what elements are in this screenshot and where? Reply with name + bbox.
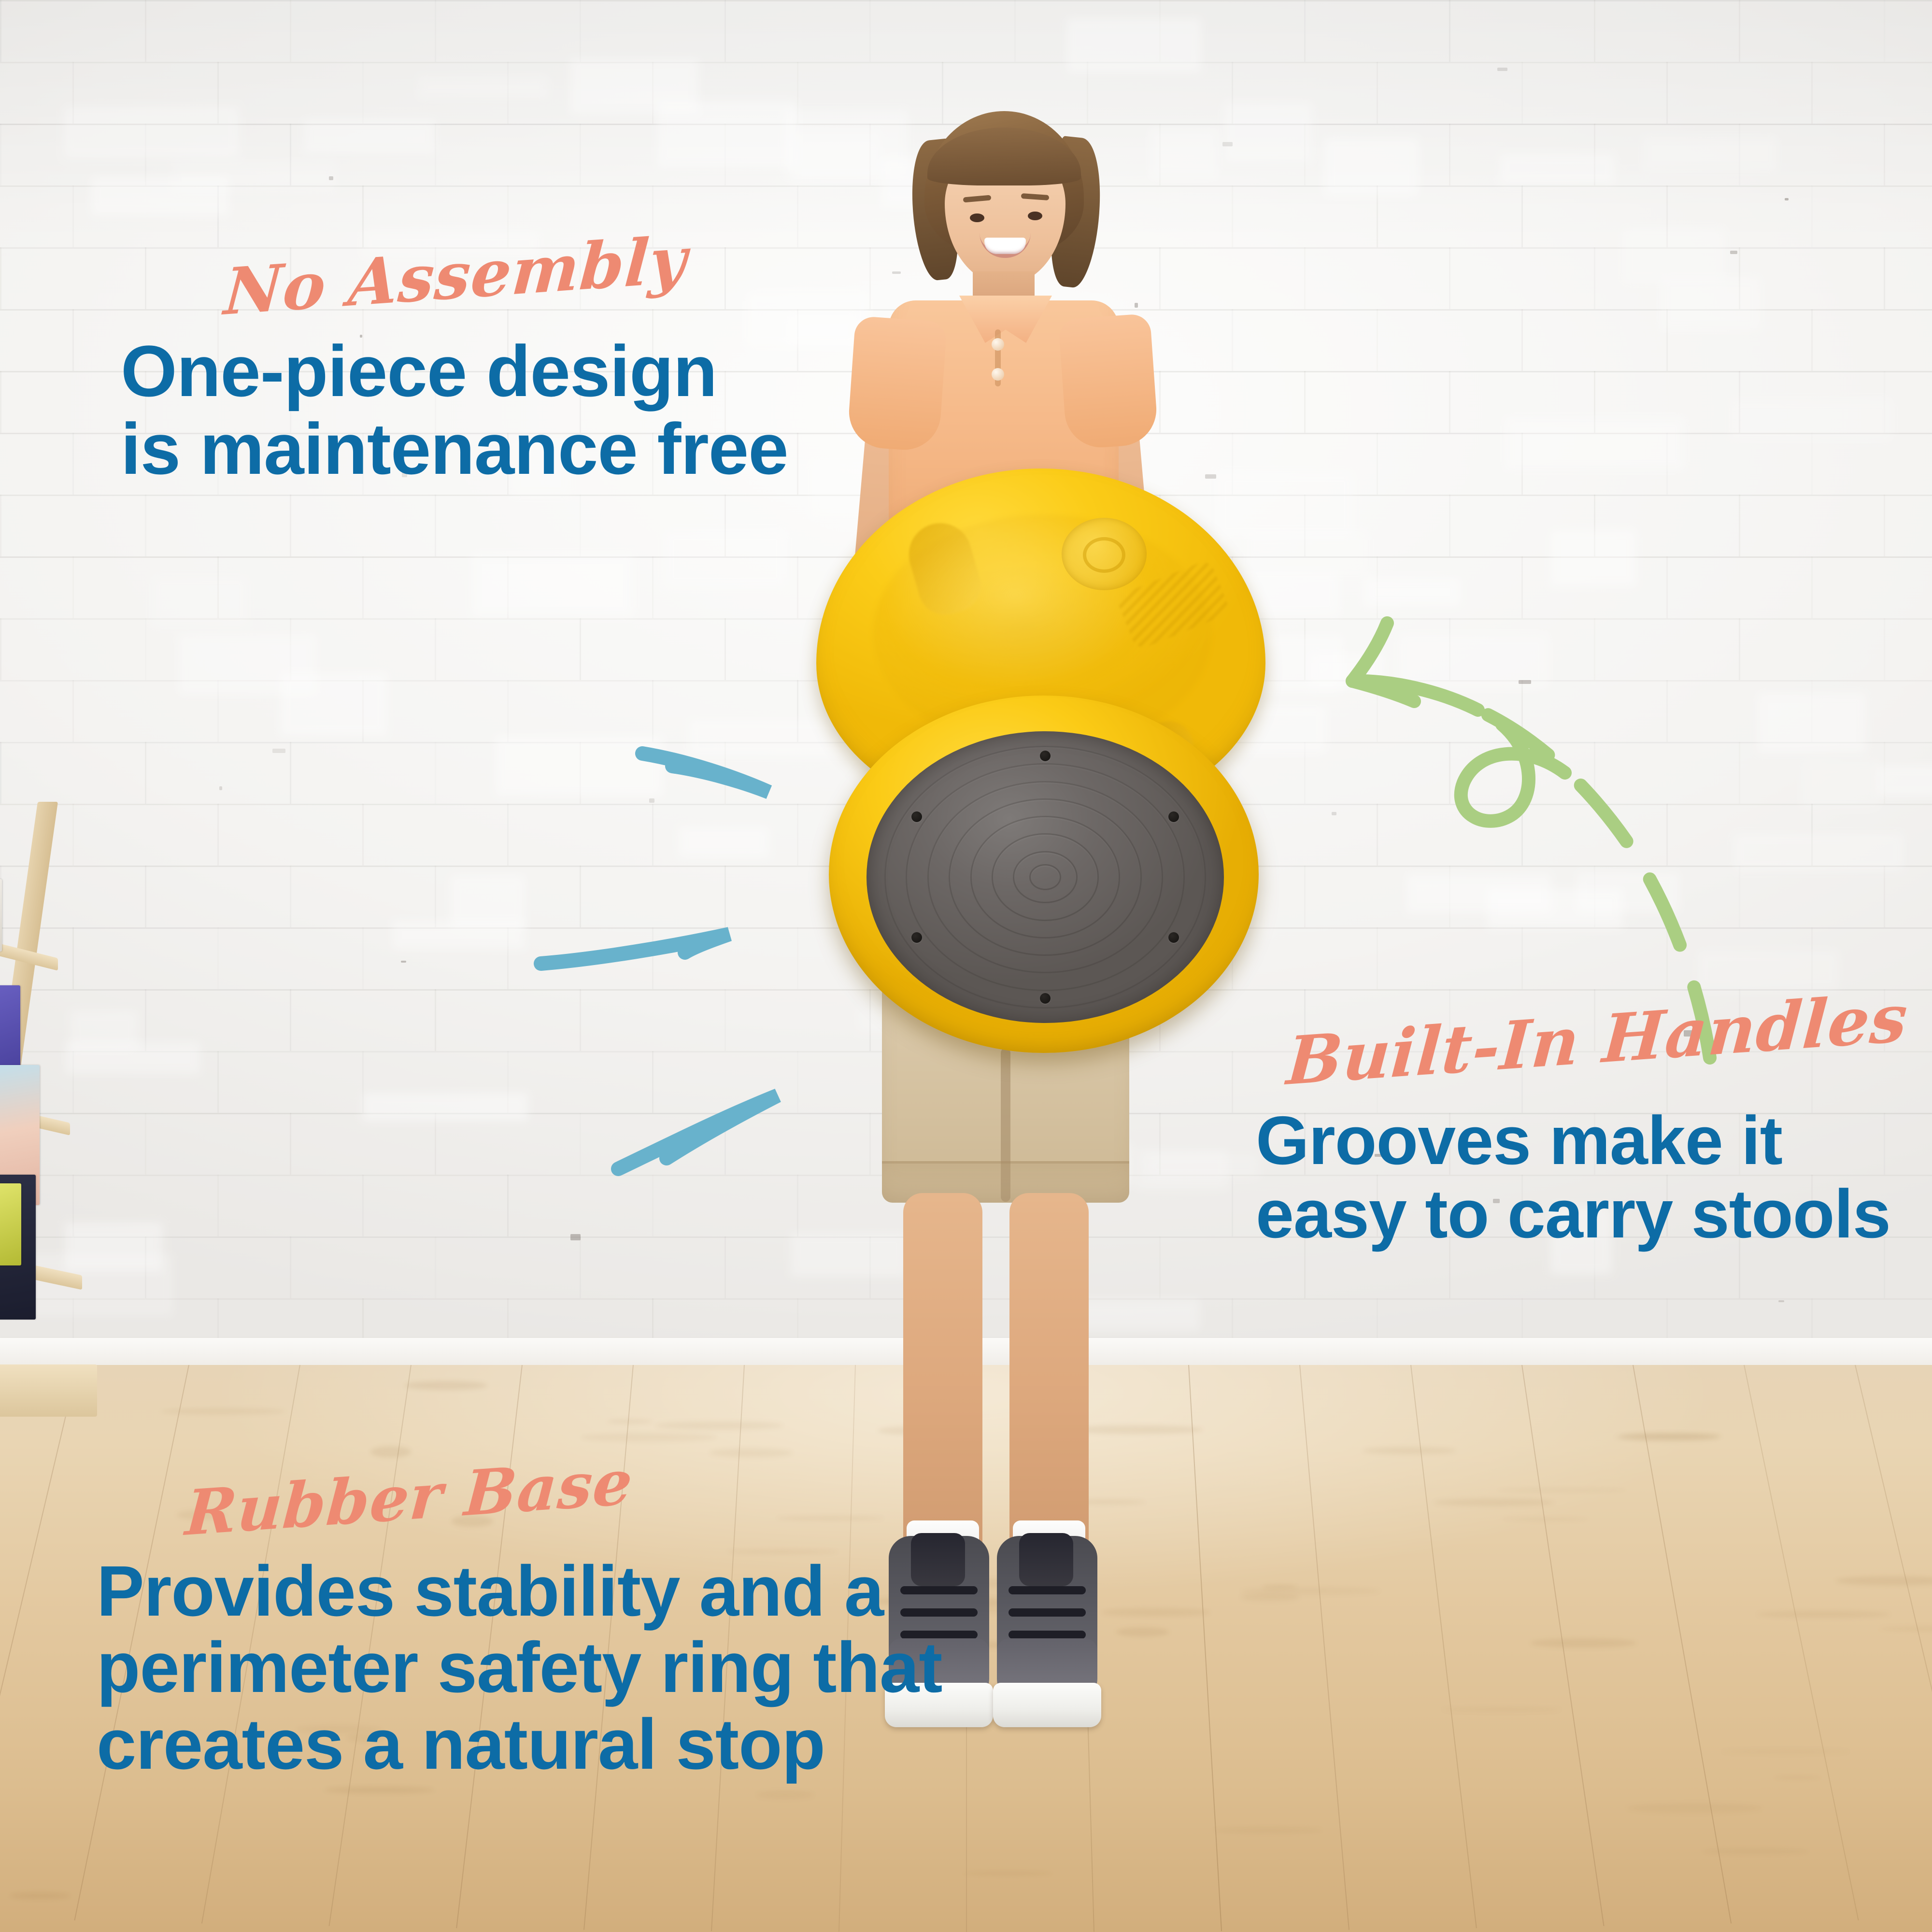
feature-block-no-assembly: No Assembly One-piece design is maintena… [121, 261, 788, 487]
floor-grain [1757, 1611, 1890, 1618]
feature-line: creates a natural stop [97, 1706, 942, 1783]
rubber-base-stud [1040, 993, 1051, 1004]
brick-vertical-seam [1884, 247, 1885, 309]
brick-highlight [1550, 530, 1636, 586]
brick-vertical-seam [435, 742, 436, 804]
feature-body-text: One-piece design is maintenance free [121, 332, 788, 487]
brick-vertical-seam [1521, 804, 1523, 866]
floor-grain [963, 1871, 1052, 1875]
brick-vertical-seam [145, 742, 146, 804]
brick-highlight [1731, 398, 1892, 440]
brick-vertical-seam [580, 1113, 581, 1175]
sneaker-tongue [1019, 1533, 1073, 1586]
brick-vertical-seam [145, 1113, 146, 1175]
brick-highlight [1877, 766, 1932, 796]
wall-blemish [329, 176, 333, 180]
shirt-button [992, 368, 1004, 381]
brick-vertical-seam [1594, 618, 1595, 680]
brick-highlight [1224, 102, 1311, 162]
book-item [0, 879, 2, 952]
brick-vertical-seam [217, 927, 219, 989]
brick-highlight [1642, 135, 1778, 171]
bookshelf-base [0, 1364, 97, 1417]
floor-grain [404, 1381, 487, 1390]
brick-vertical-seam [435, 866, 436, 927]
floor-grain [1721, 1749, 1850, 1754]
brick-vertical-seam [652, 804, 653, 866]
brick-vertical-seam [1014, 0, 1016, 62]
brick-highlight [392, 921, 526, 949]
brick-vertical-seam [435, 495, 436, 556]
wall-blemish [1497, 68, 1507, 71]
brick-highlight [1505, 417, 1685, 470]
brick-vertical-seam [580, 618, 581, 680]
feature-line: One-piece design [121, 332, 788, 410]
brick-vertical-seam [217, 1051, 219, 1113]
brick-vertical-seam [1666, 62, 1668, 124]
brick-vertical-seam [1884, 495, 1885, 556]
shirt-button [992, 338, 1004, 351]
brick-vertical-seam [362, 556, 364, 618]
brick-vertical-seam [1594, 0, 1595, 62]
brick-vertical-seam [1521, 62, 1523, 124]
floor-grain [1616, 1433, 1719, 1441]
brick-vertical-seam [1449, 247, 1450, 309]
brick-vertical-seam [1304, 371, 1306, 433]
feature-line: Grooves make it [1256, 1104, 1907, 1178]
brick-vertical-seam [1666, 927, 1668, 989]
brick-vertical-seam [1739, 618, 1740, 680]
classroom-stool-product [816, 469, 1265, 1053]
brick-vertical-seam [507, 680, 509, 742]
wall-blemish [1332, 812, 1336, 815]
infographic-canvas: No Assembly One-piece design is maintena… [0, 0, 1932, 1932]
brick-vertical-seam [0, 247, 1, 309]
brick-vertical-seam [72, 185, 74, 247]
brick-vertical-seam [1739, 0, 1740, 62]
brick-vertical-seam [290, 1236, 291, 1298]
brick-vertical-seam [435, 989, 436, 1051]
brick-vertical-seam [145, 495, 146, 556]
brick-vertical-seam [362, 927, 364, 989]
brick-highlight [451, 876, 525, 928]
brick-vertical-seam [1304, 247, 1306, 309]
brick-vertical-seam [580, 989, 581, 1051]
floor-grain [607, 1420, 653, 1423]
floor-grain [160, 1408, 285, 1414]
brick-vertical-seam [652, 680, 653, 742]
wall-blemish [1730, 251, 1737, 254]
brick-vertical-seam [435, 1113, 436, 1175]
feature-body-text: Provides stability and a perimeter safet… [97, 1553, 942, 1783]
brick-vertical-seam [0, 371, 1, 433]
brick-vertical-seam [290, 742, 291, 804]
wall-blemish [219, 786, 222, 790]
brick-vertical-seam [652, 927, 653, 989]
brick-vertical-seam [1666, 680, 1668, 742]
brick-vertical-seam [1739, 495, 1740, 556]
brick-vertical-seam [1304, 0, 1306, 62]
brick-vertical-seam [1521, 927, 1523, 989]
brick-vertical-seam [435, 1236, 436, 1298]
brick-vertical-seam [1449, 371, 1450, 433]
feature-block-built-in-handles: Built-In Handles Grooves make it easy to… [1256, 1029, 1907, 1251]
brick-vertical-seam [1811, 62, 1813, 124]
embossed-logo-mark [1083, 537, 1125, 573]
brick-vertical-seam [580, 0, 581, 62]
rubber-base-stud [1168, 811, 1179, 822]
leg-right [1009, 1193, 1089, 1560]
brick-highlight [64, 106, 238, 158]
brick-vertical-seam [1449, 495, 1450, 556]
brick-vertical-seam [72, 433, 74, 495]
feature-block-rubber-base: Rubber Base Provides stability and a per… [97, 1483, 942, 1783]
floor-grain [1434, 1499, 1554, 1506]
floor-grain [1502, 1518, 1589, 1521]
floor-grain [1702, 1848, 1809, 1855]
brick-highlight [304, 120, 435, 153]
brick-vertical-seam [724, 1236, 726, 1298]
brick-vertical-seam [724, 989, 726, 1051]
eye-left [970, 213, 984, 222]
brick-vertical-seam [290, 989, 291, 1051]
brick-highlight [1734, 834, 1904, 870]
brick-highlight [679, 827, 769, 858]
feature-body-text: Grooves make it easy to carry stools [1256, 1104, 1907, 1251]
brick-vertical-seam [1521, 185, 1523, 247]
brick-highlight [1364, 578, 1460, 606]
brick-vertical-seam [1377, 804, 1378, 866]
rubber-base-stud [911, 811, 922, 822]
brick-highlight [363, 1093, 528, 1121]
brick-vertical-seam [1811, 433, 1813, 495]
brick-vertical-seam [0, 124, 1, 185]
brick-vertical-seam [435, 0, 436, 62]
teeth [984, 238, 1026, 254]
brick-vertical-seam [435, 124, 436, 185]
brick-highlight [1406, 874, 1550, 913]
brick-vertical-seam [724, 0, 726, 62]
brick-vertical-seam [0, 618, 1, 680]
brick-vertical-seam [0, 0, 1, 62]
brick-vertical-seam [1232, 1175, 1233, 1236]
brick-vertical-seam [1377, 62, 1378, 124]
brick-vertical-seam [724, 1113, 726, 1175]
brick-vertical-seam [145, 618, 146, 680]
floor-grain [1626, 1803, 1763, 1813]
brick-vertical-seam [1884, 866, 1885, 927]
brick-vertical-seam [72, 556, 74, 618]
brick-vertical-seam [1884, 0, 1885, 62]
sneaker-lace [1009, 1586, 1086, 1594]
sleeve-right [1058, 313, 1159, 450]
brick-vertical-seam [1449, 0, 1450, 62]
floor-grain [1363, 1447, 1456, 1454]
brick-highlight [1802, 760, 1879, 810]
sleeve-left [847, 316, 947, 453]
brick-highlight [1758, 693, 1866, 753]
brick-vertical-seam [1811, 185, 1813, 247]
brick-vertical-seam [724, 866, 726, 927]
brick-vertical-seam [1811, 309, 1813, 371]
brick-vertical-seam [869, 0, 871, 62]
rubber-base [867, 731, 1224, 1023]
brick-vertical-seam [362, 804, 364, 866]
brick-vertical-seam [362, 1175, 364, 1236]
brick-highlight [1623, 227, 1724, 283]
brick-vertical-seam [652, 1175, 653, 1236]
brick-vertical-seam [1377, 927, 1378, 989]
brick-highlight [1698, 951, 1839, 991]
feature-line: is maintenance free [121, 410, 788, 488]
brick-vertical-seam [652, 1051, 653, 1113]
brick-vertical-seam [1232, 1051, 1233, 1113]
brick-highlight [496, 736, 662, 796]
brick-vertical-seam [0, 742, 1, 804]
brick-vertical-seam [1304, 866, 1306, 927]
eye-right [1028, 212, 1042, 220]
brick-highlight [151, 575, 249, 627]
brick-vertical-seam [1377, 433, 1378, 495]
brick-highlight [281, 673, 387, 735]
brick-highlight [1309, 653, 1384, 689]
brick-highlight [1324, 138, 1419, 196]
brick-vertical-seam [72, 309, 74, 371]
brick-vertical-seam [1739, 866, 1740, 927]
floor-grain [1241, 1593, 1300, 1601]
brick-vertical-seam [145, 0, 146, 62]
brick-vertical-seam [290, 1113, 291, 1175]
brick-highlight [418, 75, 549, 99]
brick-highlight [1500, 154, 1615, 185]
brick-vertical-seam [145, 866, 146, 927]
brick-vertical-seam [362, 62, 364, 124]
brick-vertical-seam [290, 0, 291, 62]
brick-vertical-seam [1232, 185, 1233, 247]
brick-vertical-seam [1521, 556, 1523, 618]
floor-grain [655, 1421, 783, 1430]
brick-vertical-seam [290, 495, 291, 556]
sneaker-right [997, 1536, 1097, 1727]
brick-vertical-seam [1884, 618, 1885, 680]
wall-blemish [401, 961, 406, 963]
sneaker-sole [993, 1683, 1101, 1727]
sneaker-lace [1009, 1608, 1086, 1617]
brick-vertical-seam [1449, 124, 1450, 185]
brick-highlight [471, 554, 633, 617]
brick-vertical-seam [0, 495, 1, 556]
brick-vertical-seam [217, 804, 219, 866]
wall-blemish [1785, 198, 1789, 200]
brick-vertical-seam [580, 124, 581, 185]
brick-vertical-seam [507, 1175, 509, 1236]
brick-vertical-seam [1377, 309, 1378, 371]
feature-line: Provides stability and a [97, 1553, 942, 1630]
brick-vertical-seam [1594, 742, 1595, 804]
brick-highlight [1661, 277, 1760, 331]
wall-blemish [570, 1234, 581, 1240]
brick-highlight [570, 59, 698, 114]
brick-vertical-seam [652, 556, 653, 618]
brick-vertical-seam [724, 618, 726, 680]
brick-vertical-seam [1449, 742, 1450, 804]
wall-blemish [1778, 1300, 1784, 1302]
brick-vertical-seam [435, 618, 436, 680]
brick-vertical-seam [217, 1175, 219, 1236]
brick-vertical-seam [507, 804, 509, 866]
floor-grain [581, 1433, 717, 1442]
brick-vertical-seam [580, 866, 581, 927]
brick-vertical-seam [72, 680, 74, 742]
brick-vertical-seam [1666, 804, 1668, 866]
floor-grain [757, 1790, 814, 1799]
brick-vertical-seam [1811, 556, 1813, 618]
feature-line: easy to carry stools [1256, 1178, 1907, 1251]
brick-vertical-seam [1521, 309, 1523, 371]
wall-blemish [272, 749, 285, 753]
brick-vertical-seam [1377, 680, 1378, 742]
brick-mortar-line [0, 62, 1932, 63]
brick-vertical-seam [1884, 124, 1885, 185]
brick-highlight [171, 161, 336, 192]
brick-vertical-seam [580, 1236, 581, 1298]
floor-grain [1774, 1776, 1820, 1779]
brick-vertical-seam [1521, 680, 1523, 742]
brick-highlight [1067, 18, 1201, 73]
rubber-base-ring [1029, 864, 1062, 890]
brick-vertical-seam [1594, 247, 1595, 309]
brick-vertical-seam [1232, 309, 1233, 371]
wall-blemish [649, 798, 654, 803]
sneaker-lace [1009, 1631, 1086, 1639]
floor-grain [1213, 1827, 1323, 1833]
floor-grain [370, 1446, 411, 1458]
feature-line: perimeter safety ring that [97, 1630, 942, 1706]
book-item [0, 1183, 21, 1265]
brick-vertical-seam [1739, 742, 1740, 804]
brick-vertical-seam [1666, 556, 1668, 618]
wall-blemish [1519, 680, 1531, 684]
bookshelf [0, 802, 116, 1425]
brick-vertical-seam [580, 495, 581, 556]
brick-vertical-seam [290, 866, 291, 927]
